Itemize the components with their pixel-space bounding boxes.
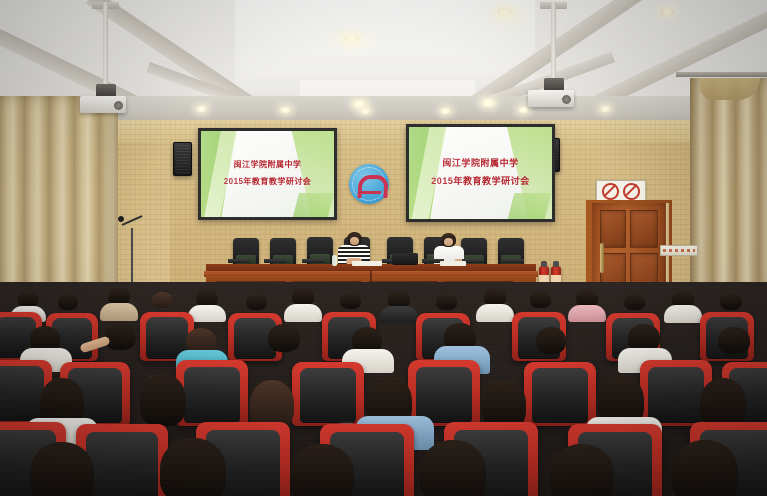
speaker-grill — [176, 145, 189, 173]
wall-speaker-left — [173, 142, 192, 176]
downlight-icon — [352, 100, 367, 108]
laptop-monitor — [392, 253, 418, 265]
projector-pole-left — [103, 2, 108, 92]
audience-shoulders — [664, 305, 702, 323]
audience-shoulders — [284, 304, 322, 322]
audience-head — [536, 327, 566, 354]
downlight-icon — [660, 8, 675, 16]
audience-shoulders — [568, 305, 606, 322]
audience-shoulders — [476, 304, 514, 322]
right-screen-surface: 闽江学院附属中学 2015年教育教学研讨会 — [409, 127, 552, 219]
document-papers — [440, 261, 466, 266]
seat-cushion — [532, 368, 588, 423]
audience-head — [672, 440, 738, 496]
emblem-base-bar — [358, 191, 381, 194]
auditorium-photo: 闽江学院附属中学 2015年教育教学研讨会 闽江学院附属中学 2015年教育教学… — [0, 0, 767, 496]
table-nameplate — [502, 259, 524, 263]
curtain-rail-right — [676, 72, 767, 77]
projector-pole-right — [551, 2, 556, 88]
audience-shoulders — [380, 306, 418, 323]
left-projection-screen: 闽江学院附属中学 2015年教育教学研讨会 — [198, 128, 337, 220]
ceiling-light-glow — [320, 22, 382, 56]
school-emblem-icon — [349, 164, 389, 204]
right-projection-screen: 闽江学院附属中学 2015年教育教学研讨会 — [406, 124, 555, 222]
audience-head — [268, 324, 300, 352]
audience-head — [550, 444, 614, 496]
downlight-icon — [600, 106, 611, 112]
screen-sheen — [409, 127, 552, 219]
downlight-icon — [360, 108, 371, 114]
seat-cushion — [648, 367, 704, 424]
audience-head — [340, 293, 361, 309]
no-smoking-sign — [596, 180, 646, 202]
audience-head — [290, 444, 354, 496]
audience-head — [530, 292, 551, 308]
no-fire-icon — [623, 183, 640, 200]
seat-cushion — [416, 367, 472, 424]
audience-head — [104, 322, 136, 350]
water-bottle — [332, 255, 337, 266]
auditorium-seat[interactable] — [292, 362, 364, 426]
audience-head — [250, 380, 294, 428]
extinguisher-nozzle — [553, 261, 559, 267]
seat-cushion — [86, 432, 158, 496]
extinguisher-label — [539, 275, 549, 282]
downlight-icon — [440, 108, 451, 114]
screen-sheen — [201, 131, 334, 217]
curtain-left — [0, 96, 118, 301]
audience-head — [160, 438, 226, 496]
downlight-icon — [481, 99, 496, 107]
door-panel — [630, 210, 658, 248]
downlight-icon — [196, 106, 207, 112]
audience-head — [152, 292, 173, 308]
microphone-icon — [118, 216, 124, 222]
audience-head — [436, 294, 457, 310]
auditorium-seat[interactable] — [524, 362, 596, 426]
projector-lens-icon — [114, 101, 123, 110]
curtain-right — [690, 78, 767, 303]
document-papers — [352, 261, 382, 266]
audience-head — [58, 294, 78, 310]
seat-cushion — [0, 366, 44, 421]
seat-cushion — [300, 368, 356, 423]
audience-head — [246, 294, 267, 310]
seat-cushion — [184, 367, 240, 424]
door-handle[interactable] — [600, 243, 604, 273]
audience-head — [30, 442, 94, 496]
auditorium-seat[interactable] — [176, 360, 248, 426]
presenter-left-face — [350, 237, 359, 245]
audience-shoulders — [100, 303, 138, 321]
wall-notice-text-row — [663, 249, 695, 252]
table-nameplate — [302, 259, 324, 263]
wall-notice-plate — [660, 245, 698, 256]
audience-head — [140, 374, 186, 426]
table-nameplate — [228, 259, 250, 263]
table-nameplate — [264, 259, 286, 263]
audience-head — [420, 440, 486, 496]
downlight-icon — [280, 107, 291, 113]
left-screen-surface: 闽江学院附属中学 2015年教育教学研讨会 — [201, 131, 334, 217]
projector-lens-icon — [562, 95, 571, 104]
extinguisher-label — [551, 275, 561, 282]
audience-head — [624, 294, 645, 310]
no-smoking-icon — [602, 183, 619, 200]
door-panel — [600, 210, 626, 248]
audience-head — [718, 327, 750, 354]
audience-area — [0, 282, 767, 496]
downlight-icon — [518, 107, 529, 113]
extinguisher-nozzle — [541, 261, 547, 267]
audience-head — [700, 378, 746, 428]
emblem-arch-mark — [357, 175, 388, 198]
audience-head — [720, 293, 742, 310]
presenter-right-face — [444, 238, 453, 246]
